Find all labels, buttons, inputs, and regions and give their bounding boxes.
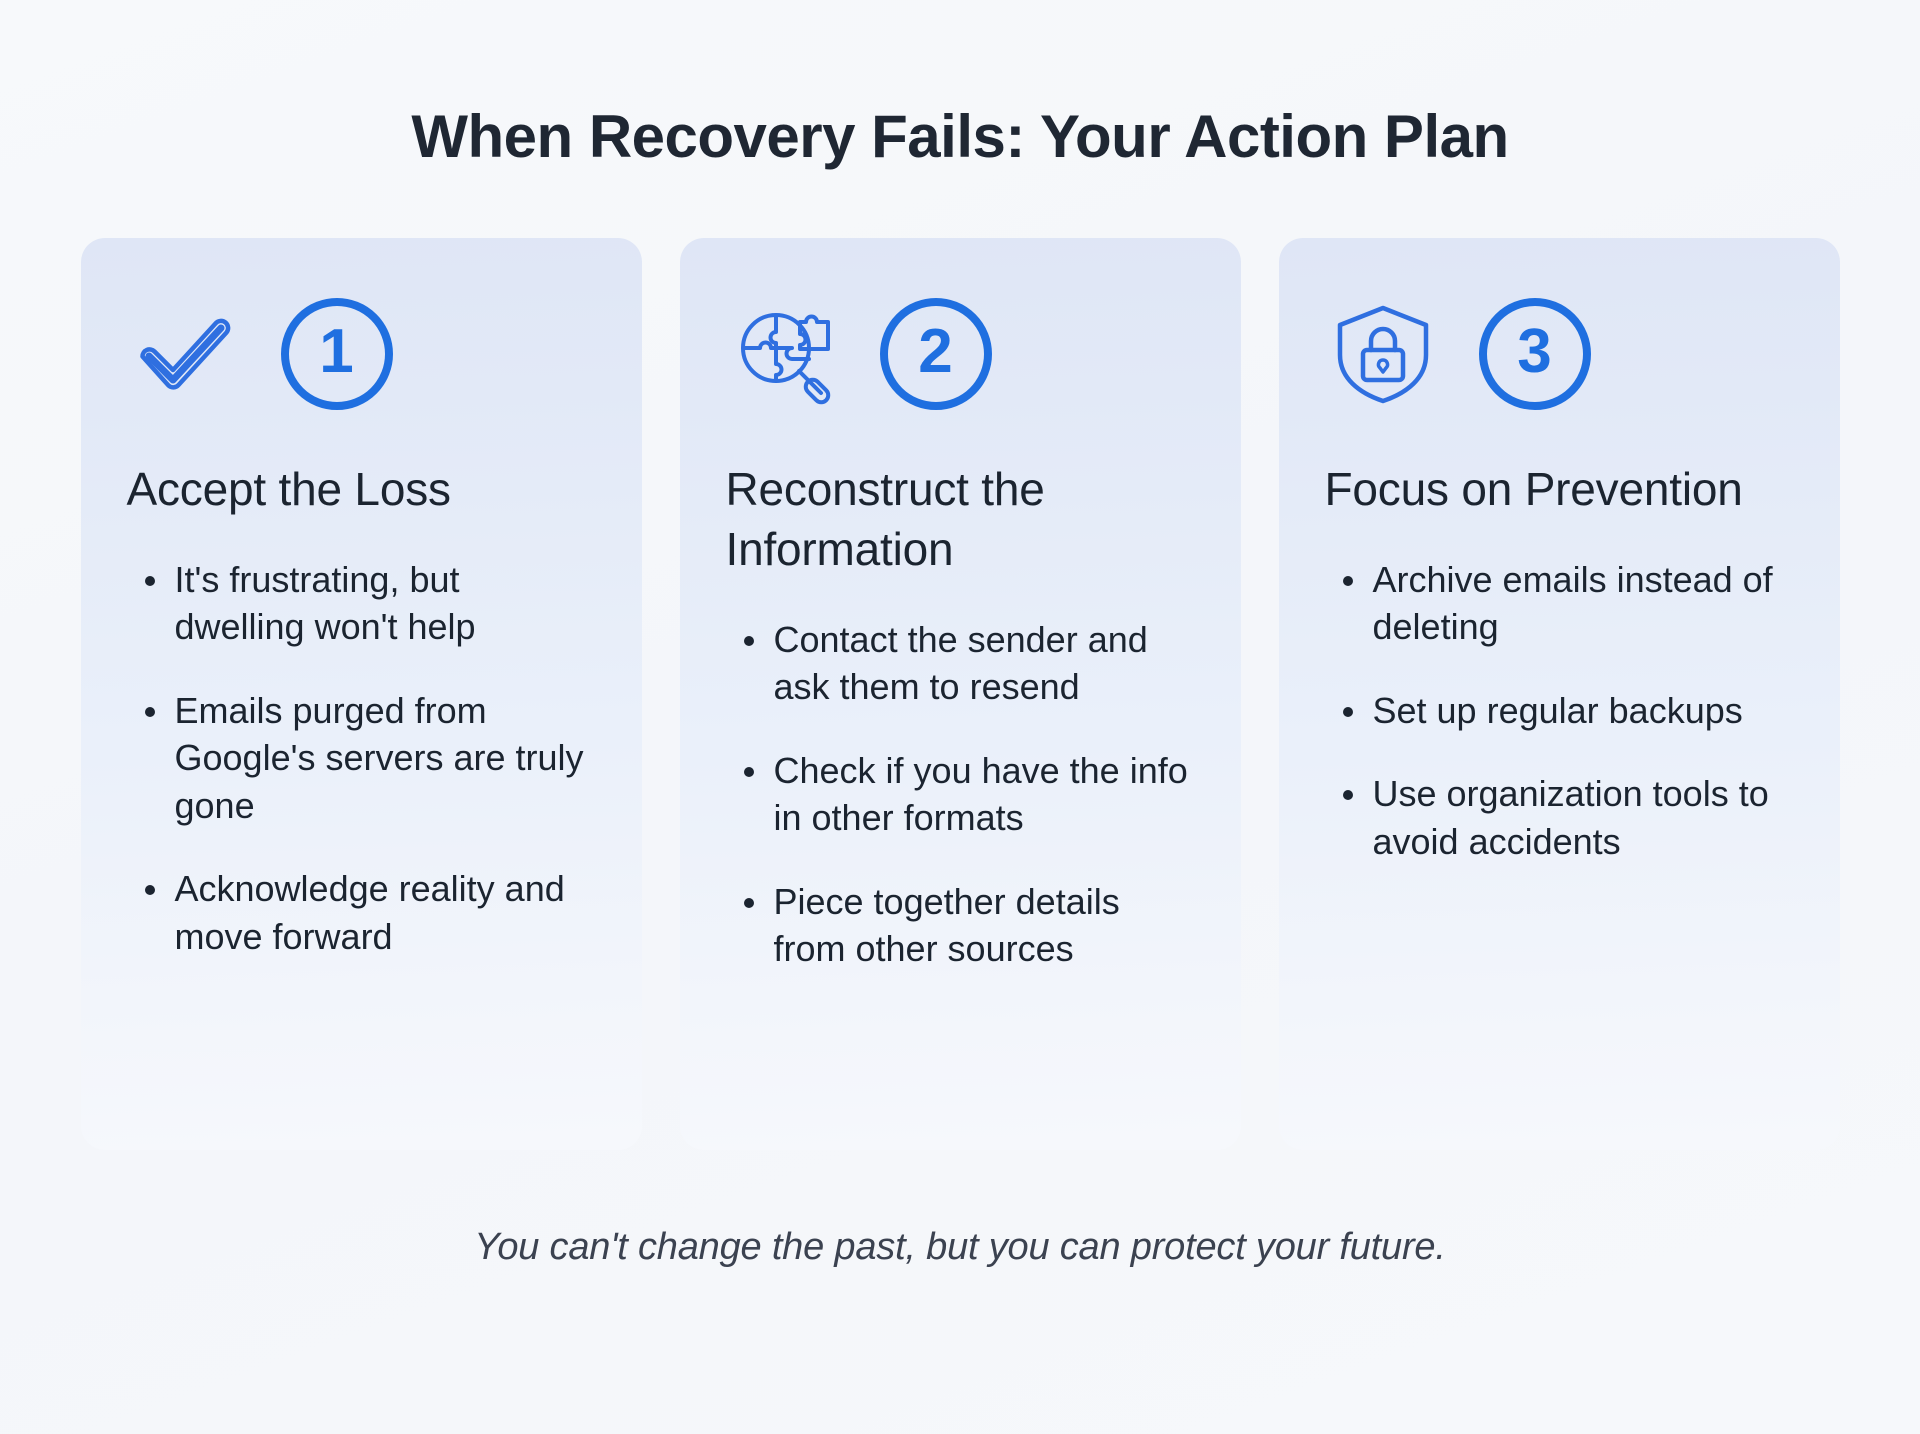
icon-row-3: 3 (1321, 292, 1798, 416)
list-item: It's frustrating, but dwelling won't hel… (137, 556, 600, 651)
icon-row-2: 2 (722, 292, 1199, 416)
list-item: Emails purged from Google's servers are … (137, 687, 600, 830)
card-heading-2: Reconstruct the Information (722, 460, 1199, 580)
page-title: When Recovery Fails: Your Action Plan (411, 104, 1508, 170)
step-number-3: 3 (1517, 321, 1551, 383)
list-item: Archive emails instead of deleting (1335, 556, 1798, 651)
bullet-list-1: It's frustrating, but dwelling won't hel… (123, 556, 600, 961)
card-row: 1 Accept the Loss It's frustrating, but … (80, 238, 1840, 1150)
list-item: Check if you have the info in other form… (736, 747, 1199, 842)
card-heading-3: Focus on Prevention (1321, 460, 1798, 520)
card-heading-1: Accept the Loss (123, 460, 600, 520)
step-number-1: 1 (319, 321, 353, 383)
footer-note: You can't change the past, but you can p… (474, 1226, 1445, 1269)
list-item: Acknowledge reality and move forward (137, 865, 600, 960)
step-number-2: 2 (918, 321, 952, 383)
list-item: Set up regular backups (1335, 687, 1798, 735)
step-number-badge-3: 3 (1479, 298, 1591, 410)
bullet-list-2: Contact the sender and ask them to resen… (722, 616, 1199, 973)
step-number-badge-2: 2 (880, 298, 992, 410)
step-number-badge-1: 1 (281, 298, 393, 410)
list-item: Contact the sender and ask them to resen… (736, 616, 1199, 711)
checkmark-icon (129, 298, 241, 410)
step-card-2: 2 Reconstruct the Information Contact th… (680, 238, 1241, 1150)
infographic-page: When Recovery Fails: Your Action Plan 1 … (0, 0, 1920, 1434)
icon-row-1: 1 (123, 292, 600, 416)
bullet-list-3: Archive emails instead of deleting Set u… (1321, 556, 1798, 866)
list-item: Piece together details from other source… (736, 878, 1199, 973)
step-card-1: 1 Accept the Loss It's frustrating, but … (81, 238, 642, 1150)
shield-lock-icon (1327, 298, 1439, 410)
step-card-3: 3 Focus on Prevention Archive emails ins… (1279, 238, 1840, 1150)
puzzle-magnifier-icon (728, 298, 840, 410)
list-item: Use organization tools to avoid accident… (1335, 770, 1798, 865)
